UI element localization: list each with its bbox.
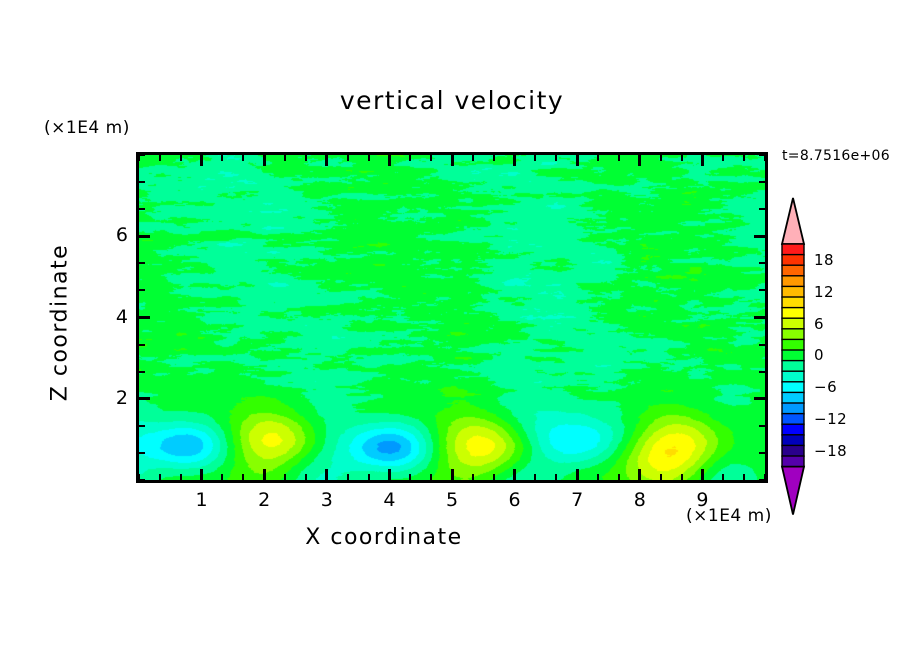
- x-major-tick: [263, 155, 266, 166]
- y-minor-tick: [759, 289, 765, 291]
- colorbar-band: [782, 297, 804, 308]
- x-minor-tick: [368, 474, 370, 480]
- x-minor-tick: [430, 474, 432, 480]
- y-minor-tick: [759, 154, 765, 156]
- x-minor-tick: [534, 474, 536, 480]
- x-minor-tick: [159, 155, 161, 161]
- x-major-tick: [388, 469, 391, 480]
- colorbar-band: [782, 265, 804, 276]
- colorbar-band: [782, 445, 804, 456]
- y-minor-tick: [759, 425, 765, 427]
- x-minor-tick: [159, 474, 161, 480]
- x-minor-tick: [221, 155, 223, 161]
- colorbar-band: [782, 350, 804, 361]
- x-minor-tick: [472, 474, 474, 480]
- y-minor-tick: [759, 262, 765, 264]
- x-minor-tick: [180, 474, 182, 480]
- contour-plot-area: [136, 152, 768, 483]
- x-minor-tick: [221, 474, 223, 480]
- x-major-tick: [388, 155, 391, 166]
- time-stamp-label: t=8.7516e+06: [782, 148, 890, 164]
- x-major-tick: [451, 469, 454, 480]
- x-minor-tick: [660, 474, 662, 480]
- y-major-tick: [754, 397, 765, 400]
- colorbar-tick-label: −18: [814, 442, 847, 460]
- x-major-tick: [701, 155, 704, 166]
- y-tick-label: 6: [88, 224, 128, 246]
- x-minor-tick: [305, 474, 307, 480]
- x-tick-label: 8: [620, 489, 660, 511]
- colorbar-band: [782, 392, 804, 403]
- x-minor-tick: [430, 155, 432, 161]
- colorbar-tick-label: −12: [814, 410, 847, 428]
- colorbar-band: [782, 382, 804, 393]
- x-major-tick: [263, 469, 266, 480]
- x-minor-tick: [409, 155, 411, 161]
- x-minor-tick: [660, 155, 662, 161]
- colorbar-band: [782, 424, 804, 435]
- y-minor-tick: [759, 208, 765, 210]
- x-major-tick: [576, 469, 579, 480]
- colorbar-extend-top: [782, 198, 804, 244]
- x-minor-tick: [681, 155, 683, 161]
- colorbar-band: [782, 361, 804, 372]
- colorbar-extend-bottom: [782, 467, 804, 515]
- x-tick-label: 9: [682, 489, 722, 511]
- x-minor-tick: [493, 474, 495, 480]
- x-minor-tick: [743, 155, 745, 161]
- y-minor-tick: [139, 289, 145, 291]
- y-minor-tick: [759, 452, 765, 454]
- colorbar-tick-label: 18: [814, 251, 834, 269]
- y-minor-tick: [139, 181, 145, 183]
- vertical-velocity-field: [139, 155, 765, 480]
- colorbar-band: [782, 276, 804, 287]
- y-minor-tick: [139, 208, 145, 210]
- x-major-tick: [576, 155, 579, 166]
- x-minor-tick: [347, 155, 349, 161]
- x-major-tick: [200, 155, 203, 166]
- y-axis-title: Z coordinate: [48, 203, 73, 443]
- y-minor-tick: [759, 371, 765, 373]
- y-major-tick: [139, 397, 150, 400]
- colorbar-tick-label: 12: [814, 283, 834, 301]
- x-tick-label: 6: [495, 489, 535, 511]
- x-major-tick: [638, 469, 641, 480]
- x-major-tick: [325, 155, 328, 166]
- x-minor-tick: [284, 155, 286, 161]
- x-minor-tick: [555, 155, 557, 161]
- y-minor-tick: [139, 371, 145, 373]
- colorbar-band: [782, 244, 804, 255]
- x-minor-tick: [368, 155, 370, 161]
- x-minor-tick: [618, 474, 620, 480]
- x-major-tick: [451, 155, 454, 166]
- colorbar-band: [782, 318, 804, 329]
- x-minor-tick: [180, 155, 182, 161]
- colorbar-tick-label: 6: [814, 315, 824, 333]
- page-title: vertical velocity: [0, 86, 904, 115]
- y-minor-tick: [139, 154, 145, 156]
- colorbar-band: [782, 329, 804, 340]
- colorbar-band: [782, 255, 804, 266]
- x-major-tick: [325, 469, 328, 480]
- x-tick-label: 1: [182, 489, 222, 511]
- colorbar-band: [782, 371, 804, 382]
- x-minor-tick: [597, 474, 599, 480]
- x-axis-title: X coordinate: [0, 525, 768, 550]
- x-tick-label: 2: [244, 489, 284, 511]
- y-minor-tick: [759, 344, 765, 346]
- colorbar-band: [782, 339, 804, 350]
- y-minor-tick: [139, 479, 145, 481]
- x-minor-tick: [597, 155, 599, 161]
- y-major-tick: [754, 316, 765, 319]
- y-minor-tick: [759, 479, 765, 481]
- x-minor-tick: [409, 474, 411, 480]
- x-minor-tick: [722, 155, 724, 161]
- colorbar-band: [782, 403, 804, 414]
- y-axis-unit-label: (×1E4 m): [44, 118, 130, 138]
- x-minor-tick: [305, 155, 307, 161]
- x-minor-tick: [347, 474, 349, 480]
- colorbar-tick-label: −6: [814, 378, 837, 396]
- x-minor-tick: [242, 474, 244, 480]
- x-minor-tick: [555, 474, 557, 480]
- x-minor-tick: [472, 155, 474, 161]
- colorbar-band: [782, 456, 804, 467]
- x-minor-tick: [722, 474, 724, 480]
- x-minor-tick: [618, 155, 620, 161]
- y-major-tick: [754, 235, 765, 238]
- y-major-tick: [139, 235, 150, 238]
- colorbar-band: [782, 286, 804, 297]
- y-minor-tick: [759, 181, 765, 183]
- x-tick-label: 5: [432, 489, 472, 511]
- x-minor-tick: [681, 474, 683, 480]
- x-tick-label: 3: [307, 489, 347, 511]
- colorbar-swatches: [778, 196, 898, 526]
- y-tick-label: 2: [88, 387, 128, 409]
- x-minor-tick: [242, 155, 244, 161]
- colorbar-tick-label: 0: [814, 346, 824, 364]
- y-minor-tick: [139, 262, 145, 264]
- y-minor-tick: [139, 425, 145, 427]
- x-major-tick: [513, 155, 516, 166]
- colorbar-band: [782, 414, 804, 425]
- y-minor-tick: [139, 452, 145, 454]
- x-minor-tick: [743, 474, 745, 480]
- colorbar-band: [782, 308, 804, 319]
- x-minor-tick: [534, 155, 536, 161]
- x-major-tick: [513, 469, 516, 480]
- x-tick-label: 7: [557, 489, 597, 511]
- x-major-tick: [638, 155, 641, 166]
- y-minor-tick: [139, 344, 145, 346]
- x-minor-tick: [493, 155, 495, 161]
- x-major-tick: [200, 469, 203, 480]
- colorbar-band: [782, 435, 804, 446]
- y-major-tick: [139, 316, 150, 319]
- colorbar: 181260−6−12−18: [778, 196, 898, 526]
- x-major-tick: [701, 469, 704, 480]
- x-minor-tick: [284, 474, 286, 480]
- y-tick-label: 4: [88, 306, 128, 328]
- x-tick-label: 4: [369, 489, 409, 511]
